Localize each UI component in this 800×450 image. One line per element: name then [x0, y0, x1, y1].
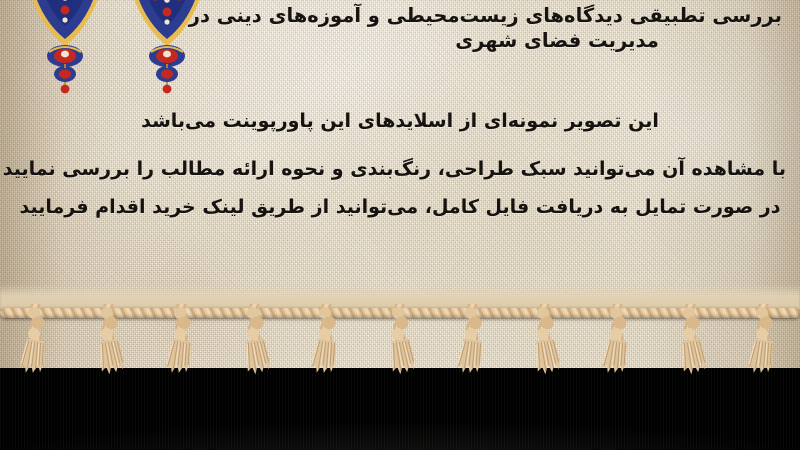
title-line-1: بررسی تطبیقی دیدگاه‌های زیست‌محیطی و آمو… [236, 4, 782, 29]
presentation-slide: بررسی تطبیقی دیدگاه‌های زیست‌محیطی و آمو… [0, 0, 800, 450]
body-line-2: با مشاهده آن می‌توانید سبک طراحی، رنگ‌بن… [14, 160, 786, 179]
body-line-3: در صورت تمایل به دریافت فایل کامل، می‌تو… [14, 198, 786, 217]
rug-weave-sheen [0, 368, 800, 450]
title-line-2: مدیریت فضای شهری [236, 29, 782, 54]
slide-body: این تصویر نمونه‌ای از اسلایدهای این پاور… [14, 112, 786, 217]
black-rug-band [0, 368, 800, 450]
body-line-1: این تصویر نمونه‌ای از اسلایدهای این پاور… [14, 112, 786, 131]
slide-title: بررسی تطبیقی دیدگاه‌های زیست‌محیطی و آمو… [236, 4, 782, 54]
